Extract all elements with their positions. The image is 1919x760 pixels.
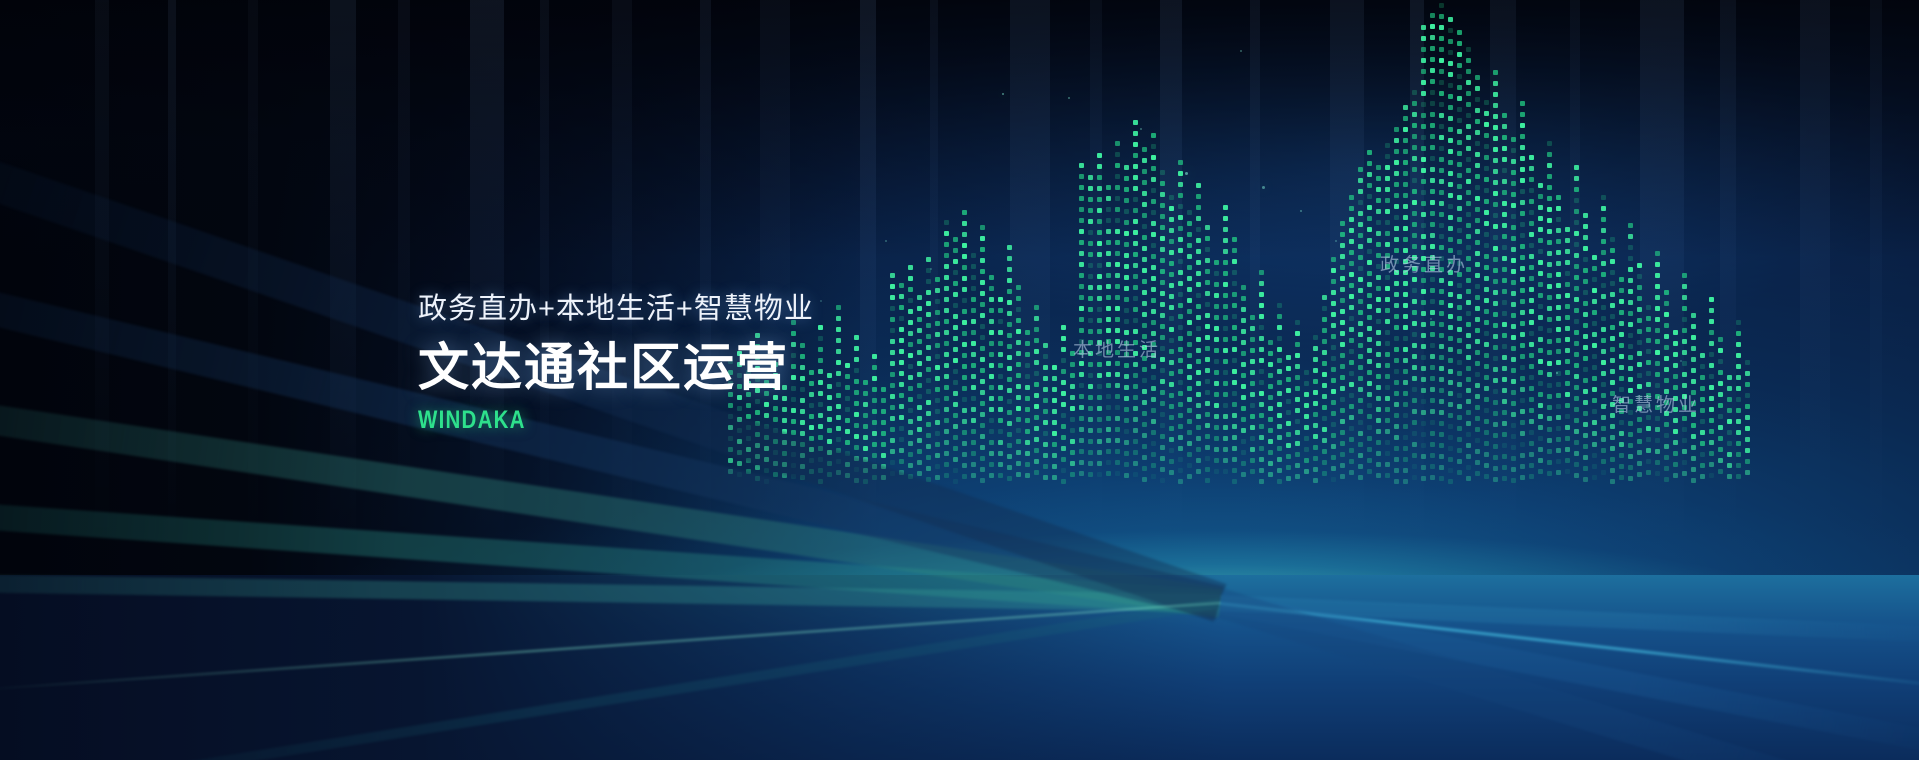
skyline-dot [1061,347,1066,352]
skyline-dot [1619,431,1624,436]
skyline-dot [881,409,886,414]
skyline-dot [1619,343,1624,348]
skyline-dot [1286,399,1291,404]
skyline-dot [953,457,958,462]
skyline-dot [1097,296,1102,301]
skyline-dot [1196,326,1201,331]
skyline-dot [872,365,877,370]
skyline-dot [737,472,742,477]
skyline-dot [836,437,841,442]
skyline-dot [1313,423,1318,428]
skyline-column [1493,70,1498,490]
skyline-dot [935,409,940,414]
skyline-column [926,257,931,490]
skyline-dot [1376,418,1381,423]
skyline-dot [890,416,895,421]
skyline-dot [1259,303,1264,308]
skyline-dot [1052,365,1057,370]
skyline-dot [1484,419,1489,424]
skyline-dot [1187,232,1192,237]
skyline-dot [1493,103,1498,108]
skyline-dot [854,368,859,373]
skyline-dot [1070,428,1075,433]
skyline-dot [881,453,886,458]
skyline-dot [1727,419,1732,424]
skyline-dot [1340,419,1345,424]
skyline-dot [1025,330,1030,335]
skyline-dot [1268,417,1273,422]
skyline-dot [1529,397,1534,402]
skyline-dot [962,210,967,215]
skyline-dot [1376,341,1381,346]
skyline-dot [1430,354,1435,359]
skyline-column [1250,315,1255,490]
skyline-dot [1529,342,1534,347]
skyline-dot [1205,313,1210,318]
skyline-dot [1556,217,1561,222]
skyline-dot [1448,369,1453,374]
skyline-dot [1439,212,1444,217]
skyline-dot [1331,389,1336,394]
skyline-dot [845,440,850,445]
skyline-dot [980,236,985,241]
skyline-dot [1475,207,1480,212]
skyline-dot [1277,336,1282,341]
skyline-dot [1646,327,1651,332]
skyline-dot [1565,282,1570,287]
skyline-dot [1124,473,1129,478]
skyline-dot [1295,342,1300,347]
skyline-dot [1619,277,1624,282]
skyline-dot [1007,322,1012,327]
skyline-dot [1745,448,1750,453]
skyline-dot [1502,377,1507,382]
skyline-dot [1394,127,1399,132]
skyline-dot [1340,375,1345,380]
skyline-dot [1295,441,1300,446]
skyline-dot [1331,433,1336,438]
skyline-dot [1187,331,1192,336]
skyline-dot [1331,312,1336,317]
skyline-column [1520,101,1525,490]
skyline-dot [1628,465,1633,470]
skyline-dot [908,452,913,457]
skyline-dot [1079,262,1084,267]
skyline-dot [1502,124,1507,129]
skyline-dot [1151,243,1156,248]
skyline-dot [1421,454,1426,459]
skyline-dot [872,464,877,469]
skyline-dot [1484,265,1489,270]
skyline-dot [1124,198,1129,203]
skyline-dot [1682,273,1687,278]
skyline-dot [1484,309,1489,314]
skyline-dot [1574,253,1579,258]
skyline-dot [926,477,931,482]
skyline-dot [1646,316,1651,321]
skyline-dot [1331,356,1336,361]
skyline-dot [1448,61,1453,66]
skyline-dot [1421,212,1426,217]
skyline-dot [1556,250,1561,255]
skyline-dot [881,387,886,392]
skyline-dot [1430,178,1435,183]
skyline-dot [1565,304,1570,309]
skyline-dot [989,385,994,390]
skyline-dot [1016,340,1021,345]
skyline-dot [1061,413,1066,418]
skyline-dot [1403,138,1408,143]
skyline-dot [1655,438,1660,443]
skyline-dot [872,420,877,425]
skyline-dot [1358,464,1363,469]
skyline-dot [1556,239,1561,244]
skyline-dot [1097,450,1102,455]
skyline-dot [1475,295,1480,300]
skyline-dot [1475,460,1480,465]
skyline-dot [1088,252,1093,257]
skyline-dot [1475,229,1480,234]
skyline-dot [845,363,850,368]
skyline-dot [1547,174,1552,179]
skyline-dot [944,374,949,379]
skyline-dot [1178,479,1183,484]
skyline-dot [1151,155,1156,160]
skyline-dot [1043,354,1048,359]
skyline-dot [899,371,904,376]
skyline-dot [1097,406,1102,411]
skyline-column [1610,237,1615,490]
skyline-dot [1421,322,1426,327]
skyline-dot [1259,270,1264,275]
skyline-dot [1178,182,1183,187]
skyline-dot [1574,275,1579,280]
skyline-dot [1403,182,1408,187]
skyline-dot [1385,363,1390,368]
skyline-dot [1025,429,1030,434]
skyline-dot [1421,366,1426,371]
skyline-dot [1511,368,1516,373]
skyline-dot [1223,392,1228,397]
skyline-dot [1034,393,1039,398]
skyline-dot [926,345,931,350]
skyline-dot [818,336,823,341]
skyline-dot [971,374,976,379]
skyline-dot [872,376,877,381]
skyline-dot [1340,320,1345,325]
dotted-skyline [0,0,1919,625]
skyline-dot [1412,354,1417,359]
skyline-dot [899,338,904,343]
skyline-dot [1709,319,1714,324]
skyline-dot [1304,447,1309,452]
skyline-dot [908,364,913,369]
skyline-dot [1214,447,1219,452]
skyline-dot [1088,439,1093,444]
skyline-dot [1574,451,1579,456]
skyline-dot [1601,415,1606,420]
skyline-dot [1457,459,1462,464]
skyline-dot [1133,219,1138,224]
skyline-dot [1673,374,1678,379]
skyline-dot [1133,472,1138,477]
skyline-dot [1475,317,1480,322]
skyline-dot [1412,365,1417,370]
skyline-dot [989,473,994,478]
skyline-dot [1466,476,1471,481]
skyline-dot [1466,333,1471,338]
skyline-dot [1322,361,1327,366]
skyline-dot [1106,229,1111,234]
skyline-dot [1601,371,1606,376]
skyline-dot [1718,414,1723,419]
skyline-dot [1169,316,1174,321]
skyline-dot [1133,384,1138,389]
skyline-dot [1403,105,1408,110]
skyline-dot [1448,347,1453,352]
skyline-dot [989,286,994,291]
skyline-dot [1376,165,1381,170]
skyline-column [1124,165,1129,490]
skyline-dot [1439,36,1444,41]
skyline-dot [1511,280,1516,285]
skyline-dot [1628,278,1633,283]
skyline-dot [818,457,823,462]
skyline-dot [944,385,949,390]
skyline-dot [746,447,751,452]
skyline-dot [1439,311,1444,316]
skyline-dot [899,415,904,420]
skyline-dot [1349,437,1354,442]
skyline-dot [1439,190,1444,195]
skyline-dot [1637,351,1642,356]
skyline-dot [1529,452,1534,457]
skyline-dot [1529,408,1534,413]
skyline-dot [1583,356,1588,361]
skyline-dot [1475,328,1480,333]
skyline-dot [1574,264,1579,269]
skyline-dot [1043,453,1048,458]
skyline-dot [1412,211,1417,216]
skyline-dot [1556,459,1561,464]
skyline-dot [1169,360,1174,365]
skyline-dot [1538,293,1543,298]
skyline-dot [1574,440,1579,445]
skyline-dot [1412,387,1417,392]
skyline-dot [1169,371,1174,376]
skyline-dot [953,468,958,473]
skyline-dot [1493,444,1498,449]
skyline-dot [1133,428,1138,433]
skyline-dot [1466,91,1471,96]
skyline-dot [1079,438,1084,443]
skyline-dot [1439,47,1444,52]
skyline-dot [908,309,913,314]
skyline-dot [1277,391,1282,396]
skyline-dot [1385,198,1390,203]
skyline-dot [1457,426,1462,431]
skyline-dot [1601,437,1606,442]
skyline-dot [1439,168,1444,173]
skyline-dot [1691,467,1696,472]
skyline-dot [827,406,832,411]
perspective-ground [0,575,1919,760]
skyline-dot [1430,233,1435,238]
skyline-dot [1367,370,1372,375]
skyline-dot [1169,393,1174,398]
skyline-dot [1034,415,1039,420]
skyline-dot [1547,262,1552,267]
skyline-dot [1547,240,1552,245]
skyline-dot [1079,218,1084,223]
skyline-dot [1673,352,1678,357]
skyline-dot [1079,383,1084,388]
skyline-column [1079,163,1084,490]
skyline-dot [1682,372,1687,377]
skyline-dot [1358,376,1363,381]
skyline-dot [1655,328,1660,333]
skyline-dot [1160,302,1165,307]
skyline-dot [1277,413,1282,418]
skyline-dot [1133,230,1138,235]
skyline-dot [1061,446,1066,451]
skyline-dot [1520,453,1525,458]
skyline-dot [1097,362,1102,367]
skyline-dot [1286,388,1291,393]
skyline-dot [962,386,967,391]
skyline-dot [1457,294,1462,299]
skyline-dot [1475,163,1480,168]
skyline-dot [1448,94,1453,99]
skyline-column [1178,160,1183,490]
skyline-dot [1628,366,1633,371]
skyline-dot [1376,462,1381,467]
skyline-dot [944,363,949,368]
skyline-dot [1268,439,1273,444]
skyline-dot [1691,335,1696,340]
skyline-dot [1520,123,1525,128]
skyline-dot [1538,381,1543,386]
skyline-dot [1700,452,1705,457]
skyline-dot [1106,306,1111,311]
skyline-dot [1529,419,1534,424]
skyline-dot [1493,422,1498,427]
skyline-dot [1448,292,1453,297]
skyline-dot [1637,384,1642,389]
skyline-dot [980,478,985,483]
skyline-dot [1448,402,1453,407]
skyline-dot [1628,421,1633,426]
skyline-dot [1178,171,1183,176]
skyline-dot [1169,272,1174,277]
skyline-dot [1340,386,1345,391]
skyline-column [1340,221,1345,490]
skyline-dot [1016,450,1021,455]
skyline-dot [1565,414,1570,419]
skyline-dot [1196,370,1201,375]
skyline-dot [1358,431,1363,436]
skyline-dot [1187,375,1192,380]
skyline-dot [1079,196,1084,201]
skyline-dot [1142,444,1147,449]
skyline-dot [1430,288,1435,293]
skyline-dot [1214,414,1219,419]
skyline-dot [1340,353,1345,358]
skyline-dot [1664,334,1669,339]
skyline-dot [1178,270,1183,275]
skyline-dot [1457,415,1462,420]
skyline-column [1160,170,1165,490]
skyline-dot [1448,116,1453,121]
skyline-dot [1007,333,1012,338]
skyline-dot [890,438,895,443]
skyline-dot [836,426,841,431]
sky-label: 政务直办 [1380,250,1468,277]
skyline-dot [1601,470,1606,475]
skyline-dot [1430,321,1435,326]
skyline-dot [1097,461,1102,466]
skyline-dot [1439,58,1444,63]
skyline-dot [1349,217,1354,222]
skyline-dot [1232,391,1237,396]
skyline-dot [1151,133,1156,138]
skyline-dot [1124,242,1129,247]
skyline-dot [1358,343,1363,348]
skyline-dot [1502,399,1507,404]
skyline-dot [827,461,832,466]
skyline-column [872,354,877,490]
skyline-dot [1430,475,1435,480]
skyline-dot [1232,369,1237,374]
skyline-dot [1601,294,1606,299]
skyline-dot [1493,334,1498,339]
skyline-dot [1727,386,1732,391]
skyline-dot [1304,436,1309,441]
skyline-dot [1412,112,1417,117]
skyline-dot [926,268,931,273]
skyline-dot [1196,315,1201,320]
skyline-dot [1151,254,1156,259]
skyline-column [854,335,859,490]
skyline-dot [899,404,904,409]
skyline-dot [1592,310,1597,315]
skyline-dot [1457,448,1462,453]
skyline-dot [1727,474,1732,479]
skyline-dot [989,363,994,368]
skyline-dot [1610,270,1615,275]
skyline-dot [1160,225,1165,230]
skyline-dot [809,469,814,474]
skyline-dot [818,435,823,440]
skyline-dot [1205,478,1210,483]
skyline-dot [1430,431,1435,436]
skyline-dot [1709,429,1714,434]
skyline-dot [1610,446,1615,451]
skyline-dot [1322,328,1327,333]
skyline-dot [1511,324,1516,329]
skyline-dot [1430,453,1435,458]
skyline-dot [1529,287,1534,292]
skyline-dot [1601,316,1606,321]
skyline-dot [1475,438,1480,443]
skyline-dot [1457,305,1462,310]
skyline-dot [899,316,904,321]
skyline-dot [1322,460,1327,465]
skyline-dot [1178,237,1183,242]
skyline-dot [1286,443,1291,448]
skyline-dot [1691,456,1696,461]
skyline-dot [1430,101,1435,106]
